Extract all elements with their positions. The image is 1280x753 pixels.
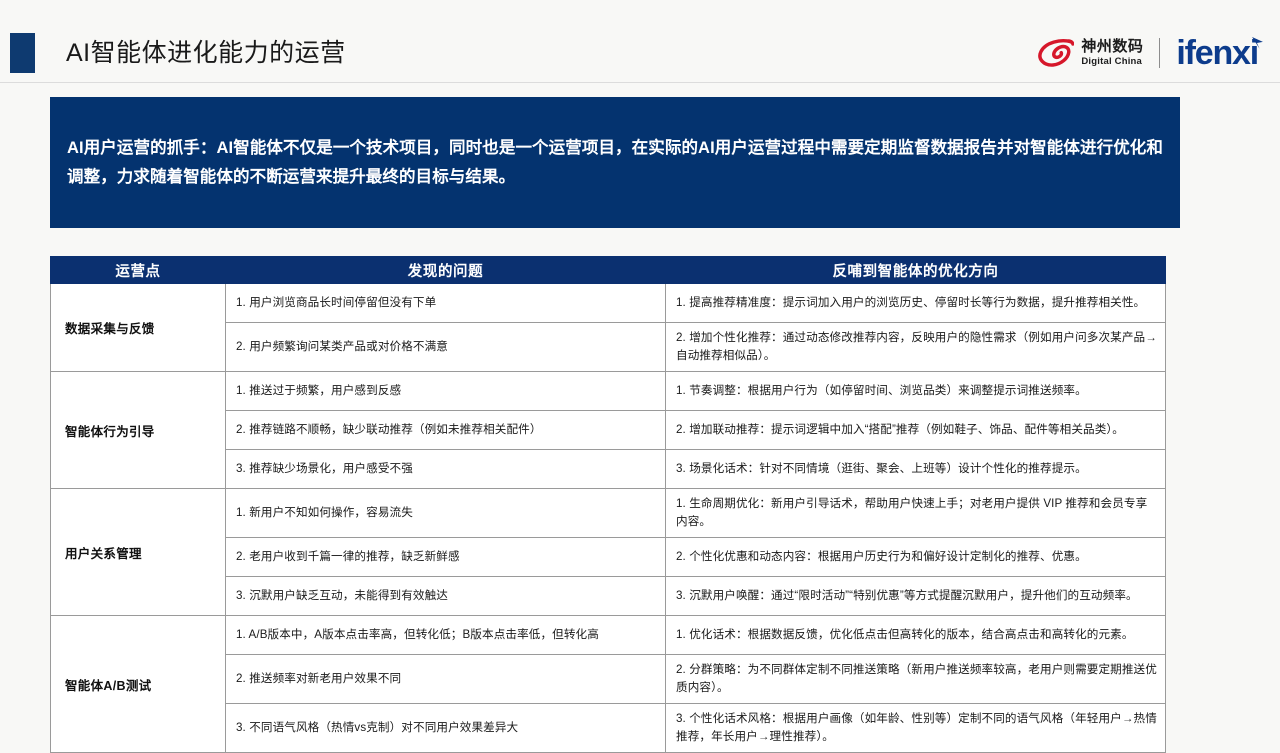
problem-cell: 1. 用户浏览商品长时间停留但没有下单 [226,284,666,323]
column-header-optimization-direction: 反哺到智能体的优化方向 [666,257,1166,284]
category-cell: 智能体行为引导 [51,372,226,489]
ifenxi-flag-icon [1251,37,1264,50]
callout-text: AI用户运营的抓手：AI智能体不仅是一个技术项目，同时也是一个运营项目，在实际的… [50,134,1180,192]
callout-banner: AI用户运营的抓手：AI智能体不仅是一个技术项目，同时也是一个运营项目，在实际的… [50,97,1180,228]
problem-cell: 3. 推荐缺少场景化，用户感受不强 [226,450,666,489]
digital-china-cn-text: 神州数码 [1081,39,1143,54]
header-accent-block [10,33,35,73]
digital-china-swoosh-icon [1038,38,1074,68]
optimization-cell: 2. 个性化优惠和动态内容：根据用户历史行为和偏好设计定制化的推荐、优惠。 [666,538,1166,577]
category-cell: 智能体A/B测试 [51,616,226,753]
digital-china-en-text: Digital China [1081,57,1143,67]
table-row: 用户关系管理 1. 新用户不知如何操作，容易流失 1. 生命周期优化：新用户引导… [51,489,1166,538]
optimization-cell: 1. 提高推荐精准度：提示词加入用户的浏览历史、停留时长等行为数据，提升推荐相关… [666,284,1166,323]
optimization-cell: 2. 增加联动推荐：提示词逻辑中加入“搭配”推荐（例如鞋子、饰品、配件等相关品类… [666,411,1166,450]
problem-cell: 1. 新用户不知如何操作，容易流失 [226,489,666,538]
problem-cell: 2. 老用户收到千篇一律的推荐，缺乏新鲜感 [226,538,666,577]
category-cell: 数据采集与反馈 [51,284,226,372]
logo-group: 神州数码 Digital China ifenxi [1038,30,1262,76]
problem-cell: 1. 推送过于频繁，用户感到反感 [226,372,666,411]
column-header-operation-point: 运营点 [51,257,226,284]
optimization-cell: 3. 场景化话术：针对不同情境（逛街、聚会、上班等）设计个性化的推荐提示。 [666,450,1166,489]
logo-divider [1159,38,1160,68]
operations-table: 运营点 发现的问题 反哺到智能体的优化方向 数据采集与反馈 1. 用户浏览商品长… [50,256,1166,753]
table-body: 数据采集与反馈 1. 用户浏览商品长时间停留但没有下单 1. 提高推荐精准度：提… [51,284,1166,753]
page-title: AI智能体进化能力的运营 [66,36,346,70]
table-row: 数据采集与反馈 1. 用户浏览商品长时间停留但没有下单 1. 提高推荐精准度：提… [51,284,1166,323]
problem-cell: 3. 不同语气风格（热情vs克制）对不同用户效果差异大 [226,704,666,753]
table-row: 智能体A/B测试 1. A/B版本中，A版本点击率高，但转化低；B版本点击率低，… [51,616,1166,655]
digital-china-logo: 神州数码 Digital China [1038,38,1143,68]
slide-header: AI智能体进化能力的运营 神州数码 Digital China ifenxi [0,0,1280,83]
optimization-cell: 1. 优化话术：根据数据反馈，优化低点击但高转化的版本，结合高点击和高转化的元素… [666,616,1166,655]
problem-cell: 2. 用户频繁询问某类产品或对价格不满意 [226,323,666,372]
header-divider [0,82,1280,83]
ifenxi-logo: ifenxi [1176,36,1262,70]
table-header: 运营点 发现的问题 反哺到智能体的优化方向 [51,257,1166,284]
problem-cell: 3. 沉默用户缺乏互动，未能得到有效触达 [226,577,666,616]
table-row: 智能体行为引导 1. 推送过于频繁，用户感到反感 1. 节奏调整：根据用户行为（… [51,372,1166,411]
optimization-cell: 3. 个性化话术风格：根据用户画像（如年龄、性别等）定制不同的语气风格（年轻用户… [666,704,1166,753]
ifenxi-wordmark: ifenxi [1176,34,1258,72]
column-header-discovered-problem: 发现的问题 [226,257,666,284]
problem-cell: 2. 推荐链路不顺畅，缺少联动推荐（例如未推荐相关配件） [226,411,666,450]
optimization-cell: 1. 生命周期优化：新用户引导话术，帮助用户快速上手；对老用户提供 VIP 推荐… [666,489,1166,538]
optimization-cell: 3. 沉默用户唤醒：通过“限时活动”“特别优惠”等方式提醒沉默用户，提升他们的互… [666,577,1166,616]
problem-cell: 2. 推送频率对新老用户效果不同 [226,655,666,704]
digital-china-wordmark: 神州数码 Digital China [1081,39,1143,67]
table-header-row: 运营点 发现的问题 反哺到智能体的优化方向 [51,257,1166,284]
optimization-cell: 2. 增加个性化推荐：通过动态修改推荐内容，反映用户的隐性需求（例如用户问多次某… [666,323,1166,372]
problem-cell: 1. A/B版本中，A版本点击率高，但转化低；B版本点击率低，但转化高 [226,616,666,655]
category-cell: 用户关系管理 [51,489,226,616]
optimization-cell: 1. 节奏调整：根据用户行为（如停留时间、浏览品类）来调整提示词推送频率。 [666,372,1166,411]
optimization-cell: 2. 分群策略：为不同群体定制不同推送策略（新用户推送频率较高，老用户则需要定期… [666,655,1166,704]
